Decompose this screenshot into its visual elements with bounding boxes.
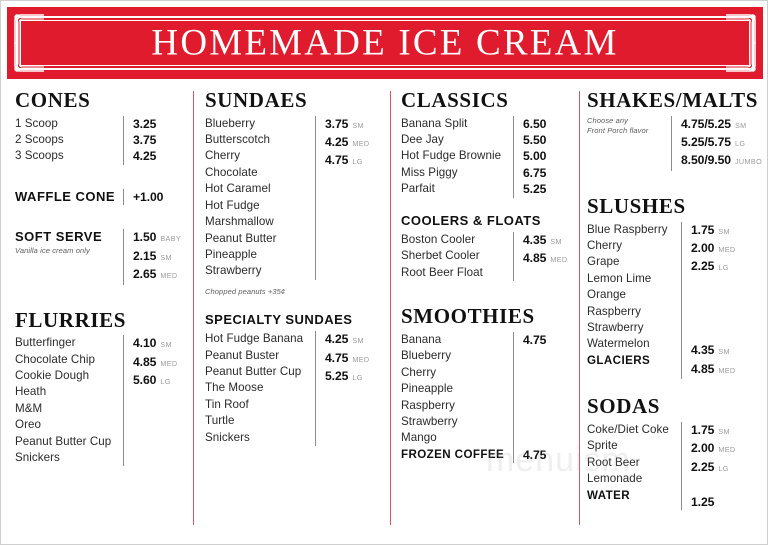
price-row: 3.75 (133, 132, 156, 148)
section-heading: SODAS (587, 395, 759, 418)
price-row: 5.50 (523, 132, 546, 148)
price-size: LG (352, 373, 362, 382)
price-row: 4.35SM (691, 342, 736, 360)
list-item: Dee Jay (401, 132, 513, 148)
list-item: Oreo (15, 417, 123, 433)
price-value: 4.75 (523, 448, 546, 462)
list-item: Watermelon (587, 336, 681, 352)
list-item: Lemon Lime (587, 271, 681, 287)
price-size: LG (735, 139, 745, 148)
list-item: Blue Raspberry (587, 222, 681, 238)
list-item: Tin Roof (205, 397, 315, 413)
price-row: 4.85MED (691, 361, 736, 379)
price-value: 1.75 (691, 423, 714, 437)
list-item: Hot Fudge Brownie (401, 148, 513, 164)
price-row: 4.35SM (523, 232, 568, 250)
price-value: 4.35 (523, 233, 546, 247)
price-row: 4.25MED (325, 134, 370, 152)
price-row: 2.25LG (691, 258, 736, 276)
list-item: GLACIERS (587, 353, 681, 369)
list-item: Snickers (205, 430, 315, 446)
list-item: Boston Cooler (401, 232, 513, 248)
price-size: SM (718, 347, 730, 356)
item-name-list: WAFFLE CONE (15, 189, 123, 205)
list-item: Coke/Diet Coke (587, 422, 681, 438)
menu-column-4: SHAKES/MALTS Choose anyFront Porch flavo… (587, 89, 759, 534)
section-classics: CLASSICS Banana Split Dee Jay Hot Fudge … (401, 89, 577, 198)
item-name-list: Banana Blueberry Cherry Pineapple Raspbe… (401, 332, 513, 463)
price-row: 4.75 (523, 447, 546, 463)
price-value: 5.25/5.75 (681, 135, 731, 149)
list-item: Hot Fudge (205, 198, 315, 214)
price-size: MED (352, 139, 369, 148)
price-size: MED (718, 366, 735, 375)
price-value: 6.75 (523, 166, 546, 180)
price-value: 2.25 (691, 259, 714, 273)
list-item: The Moose (205, 380, 315, 396)
price-value: 4.25 (133, 149, 156, 163)
price-value: +1.00 (133, 190, 163, 204)
price-list: 6.50 5.50 5.00 6.75 5.25 (513, 116, 546, 198)
price-size: LG (352, 157, 362, 166)
price-row: +1.00 (133, 189, 163, 205)
section-sodas: SODAS Coke/Diet Coke Sprite Root Beer Le… (587, 395, 759, 510)
section-footnote: Chopped peanuts +35¢ (205, 287, 387, 297)
list-item: 1 Scoop (15, 116, 123, 132)
price-size: MED (718, 445, 735, 454)
section-heading: FLURRIES (15, 309, 191, 332)
price-value: 4.75 (523, 333, 546, 347)
menu-page: HOMEMADE ICE CREAM CONES 1 Scoop 2 Scoop… (0, 0, 768, 545)
price-size: LG (718, 464, 728, 473)
price-value: 4.75 (325, 351, 348, 365)
list-item: Peanut Buster (205, 348, 315, 364)
page-title: HOMEMADE ICE CREAM (7, 25, 763, 62)
menu-column-3: CLASSICS Banana Split Dee Jay Hot Fudge … (401, 89, 577, 534)
price-row: 2.65MED (133, 266, 181, 284)
price-size: MED (718, 245, 735, 254)
price-row: 2.00MED (691, 440, 736, 458)
price-row: 5.00 (523, 148, 546, 164)
price-row: 4.75MED (325, 350, 370, 368)
list-item: Hot Caramel (205, 181, 315, 197)
price-size: MED (550, 255, 567, 264)
price-size: SM (160, 340, 172, 349)
price-row: 4.10SM (133, 335, 178, 353)
list-item: Banana Split (401, 116, 513, 132)
list-item: FROZEN COFFEE (401, 447, 513, 463)
price-value: 1.50 (133, 230, 156, 244)
list-item: Chocolate Chip (15, 352, 123, 368)
price-value: 2.25 (691, 460, 714, 474)
list-item: Banana (401, 332, 513, 348)
section-heading: CONES (15, 89, 191, 112)
section-waffle-cone: WAFFLE CONE +1.00 (15, 189, 191, 205)
price-row: 5.25/5.75LG (681, 134, 762, 152)
list-item: Grape (587, 254, 681, 270)
list-item: Cherry (587, 238, 681, 254)
price-value: 3.75 (325, 117, 348, 131)
list-item: Peanut Butter (205, 231, 315, 247)
list-item: Sherbet Cooler (401, 248, 513, 264)
list-item: Blueberry (401, 348, 513, 364)
price-value: 4.85 (133, 355, 156, 369)
price-value: 4.85 (691, 362, 714, 376)
list-item: Root Beer Float (401, 265, 513, 281)
price-value: 4.75/5.25 (681, 117, 731, 131)
list-item: Parfait (401, 181, 513, 197)
item-name-list: Banana Split Dee Jay Hot Fudge Brownie M… (401, 116, 513, 198)
price-value: 6.50 (523, 117, 546, 131)
price-list: 4.10SM 4.85MED 5.60LG (123, 335, 178, 466)
price-row: 3.75SM (325, 116, 370, 134)
price-value: 4.25 (325, 135, 348, 149)
section-flurries: FLURRIES Butterfinger Chocolate Chip Coo… (15, 309, 191, 467)
price-size: JUMBO (735, 157, 762, 166)
price-size: SM (550, 237, 562, 246)
price-row: 8.50/9.50JUMBO (681, 152, 762, 170)
menu-column-2: SUNDAES Blueberry Butterscotch Cherry Ch… (205, 89, 387, 534)
price-value: 4.85 (523, 251, 546, 265)
list-item: Raspberry (587, 304, 681, 320)
list-item: Marshmallow (205, 214, 315, 230)
list-item: Miss Piggy (401, 165, 513, 181)
section-heading: SPECIALTY SUNDAES (205, 313, 387, 327)
price-row: 6.75 (523, 165, 546, 181)
price-value: 5.25 (325, 369, 348, 383)
price-value: 5.25 (523, 182, 546, 196)
price-value: 2.00 (691, 441, 714, 455)
price-list: 1.50BABY 2.15SM 2.65MED (123, 229, 181, 284)
menu-columns: CONES 1 Scoop 2 Scoops 3 Scoops 3.25 3.7… (1, 89, 768, 534)
price-size: LG (718, 263, 728, 272)
list-item: Strawberry (587, 320, 681, 336)
item-name-list: Blue Raspberry Cherry Grape Lemon Lime O… (587, 222, 681, 370)
section-heading: WAFFLE CONE (15, 189, 123, 205)
price-value: 4.10 (133, 336, 156, 350)
section-heading: SUNDAES (205, 89, 387, 112)
price-row: 4.85MED (133, 354, 178, 372)
price-size: SM (352, 336, 364, 345)
section-soft-serve: SOFT SERVE Vanilla ice cream only 1.50BA… (15, 229, 191, 284)
price-size: BABY (160, 234, 181, 243)
item-name-list: Choose anyFront Porch flavor (587, 116, 671, 136)
list-item: Heath (15, 384, 123, 400)
price-size: SM (160, 253, 172, 262)
price-value: 2.65 (133, 267, 156, 281)
item-name-list: Hot Fudge Banana Peanut Buster Peanut Bu… (205, 331, 315, 446)
price-value: 4.25 (325, 332, 348, 346)
price-row: 2.00MED (691, 240, 736, 258)
section-heading: SMOOTHIES (401, 305, 577, 328)
price-value: 3.75 (133, 133, 156, 147)
list-item: Hot Fudge Banana (205, 331, 315, 347)
price-row: 4.85MED (523, 250, 568, 268)
price-list: 1.75SM 2.00MED 2.25LG 1.25 (681, 422, 736, 510)
section-slushes: SLUSHES Blue Raspberry Cherry Grape Lemo… (587, 195, 759, 379)
item-name-list: Coke/Diet Coke Sprite Root Beer Lemonade… (587, 422, 681, 504)
price-value: 5.50 (523, 133, 546, 147)
list-item: Strawberry (401, 414, 513, 430)
list-item: Turtle (205, 413, 315, 429)
list-item: Cherry (401, 365, 513, 381)
price-size: SM (718, 227, 730, 236)
price-value: 5.00 (523, 149, 546, 163)
list-item: Butterscotch (205, 132, 315, 148)
item-name-list: Blueberry Butterscotch Cherry Chocolate … (205, 116, 315, 280)
price-row: 2.25LG (691, 459, 736, 477)
price-size: SM (718, 427, 730, 436)
price-value: 2.15 (133, 249, 156, 263)
list-item: Pineapple (401, 381, 513, 397)
price-size: MED (352, 355, 369, 364)
price-row: 1.75SM (691, 422, 736, 440)
price-row: 1.25 (691, 494, 736, 510)
column-divider-2 (390, 91, 391, 525)
section-smoothies: SMOOTHIES Banana Blueberry Cherry Pineap… (401, 305, 577, 463)
price-row: 6.50 (523, 116, 546, 132)
list-item: Chocolate (205, 165, 315, 181)
list-item: WATER (587, 488, 681, 504)
list-item: Butterfinger (15, 335, 123, 351)
section-sundaes: SUNDAES Blueberry Butterscotch Cherry Ch… (205, 89, 387, 297)
price-size: MED (160, 359, 177, 368)
price-row: 4.25 (133, 148, 156, 164)
list-item: Raspberry (401, 398, 513, 414)
column-divider-1 (193, 91, 194, 525)
list-item: Mango (401, 430, 513, 446)
price-row: 4.75LG (325, 152, 370, 170)
price-row: 2.15SM (133, 248, 181, 266)
menu-column-1: CONES 1 Scoop 2 Scoops 3 Scoops 3.25 3.7… (15, 89, 191, 534)
price-value: 4.35 (691, 343, 714, 357)
price-row: 4.75/5.25SM (681, 116, 762, 134)
list-item: Strawberry (205, 263, 315, 279)
section-heading: SHAKES/MALTS (587, 89, 759, 112)
price-value: 8.50/9.50 (681, 153, 731, 167)
price-value: 4.75 (325, 153, 348, 167)
price-list: 4.75 4.75 (513, 332, 546, 463)
price-size: SM (735, 121, 747, 130)
list-item: Pineapple (205, 247, 315, 263)
price-list: 3.25 3.75 4.25 (123, 116, 156, 165)
list-item: M&M (15, 401, 123, 417)
section-shakes-malts: SHAKES/MALTS Choose anyFront Porch flavo… (587, 89, 759, 171)
price-list: 4.25SM 4.75MED 5.25LG (315, 331, 370, 446)
list-item: Cherry (205, 148, 315, 164)
price-value: 3.25 (133, 117, 156, 131)
price-row: 1.50BABY (133, 229, 181, 247)
price-size: SM (352, 121, 364, 130)
list-item: 3 Scoops (15, 148, 123, 164)
price-row: 4.75 (523, 332, 546, 348)
item-name-list: 1 Scoop 2 Scoops 3 Scoops (15, 116, 123, 165)
list-item: Peanut Butter Cup (205, 364, 315, 380)
list-item: Blueberry (205, 116, 315, 132)
section-note: Vanilla ice cream only (15, 246, 123, 256)
section-coolers-floats: COOLERS & FLOATS Boston Cooler Sherbet C… (401, 214, 577, 282)
price-row: 5.60LG (133, 372, 178, 390)
price-row: 4.25SM (325, 331, 370, 349)
price-size: MED (160, 271, 177, 280)
section-heading: COOLERS & FLOATS (401, 214, 577, 228)
section-heading: SOFT SERVE (15, 229, 123, 245)
price-size: LG (160, 377, 170, 386)
price-list: 4.35SM 4.85MED (513, 232, 568, 281)
price-list: 3.75SM 4.25MED 4.75LG (315, 116, 370, 280)
price-value: 1.25 (691, 495, 714, 509)
section-cones: CONES 1 Scoop 2 Scoops 3 Scoops 3.25 3.7… (15, 89, 191, 165)
list-item: Root Beer (587, 455, 681, 471)
section-specialty-sundaes: SPECIALTY SUNDAES Hot Fudge Banana Peanu… (205, 313, 387, 446)
price-row: 3.25 (133, 116, 156, 132)
item-name-list: Butterfinger Chocolate Chip Cookie Dough… (15, 335, 123, 466)
item-name-list: SOFT SERVE Vanilla ice cream only (15, 229, 123, 256)
list-item: Peanut Butter Cup (15, 434, 123, 450)
list-item: 2 Scoops (15, 132, 123, 148)
item-name-list: Boston Cooler Sherbet Cooler Root Beer F… (401, 232, 513, 281)
list-item: Lemonade (587, 471, 681, 487)
price-row: 5.25LG (325, 368, 370, 386)
price-list: 4.75/5.25SM 5.25/5.75LG 8.50/9.50JUMBO (671, 116, 762, 171)
menu-header-banner: HOMEMADE ICE CREAM (7, 7, 763, 79)
price-list: 1.75SM 2.00MED 2.25LG 4.35SM 4.85MED (681, 222, 736, 380)
price-value: 2.00 (691, 241, 714, 255)
list-item: Cookie Dough (15, 368, 123, 384)
price-value: 5.60 (133, 373, 156, 387)
column-divider-3 (579, 91, 580, 525)
section-heading: CLASSICS (401, 89, 577, 112)
price-row: 1.75SM (691, 222, 736, 240)
section-note: Choose anyFront Porch flavor (587, 116, 671, 136)
list-item: Snickers (15, 450, 123, 466)
list-item: Orange (587, 287, 681, 303)
price-row: 5.25 (523, 181, 546, 197)
price-value: 1.75 (691, 223, 714, 237)
list-item: Sprite (587, 438, 681, 454)
price-list: +1.00 (123, 189, 163, 205)
section-heading: SLUSHES (587, 195, 759, 218)
